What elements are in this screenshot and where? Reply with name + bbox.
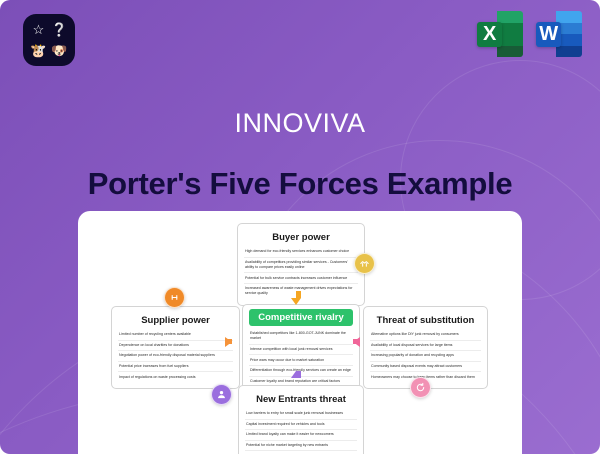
excel-icon-letter: X: [477, 22, 502, 48]
arrow-substitution-to-rivalry: [353, 339, 360, 344]
list-item: Potential for niche market targeting by …: [245, 441, 357, 452]
list-item: High demand for eco-friendly services en…: [244, 247, 358, 258]
arrow-entrants-to-rivalry: [293, 371, 301, 378]
word-icon-letter: W: [536, 22, 561, 48]
force-bullets-buyer-power: High demand for eco-friendly services en…: [244, 247, 358, 299]
recycle-icon: [410, 377, 431, 398]
star-icon: ☆: [33, 23, 45, 36]
word-icon[interactable]: W: [536, 11, 582, 57]
force-title-buyer-power: Buyer power: [244, 229, 358, 247]
force-card-supplier-power[interactable]: Supplier power Limited number of recycli…: [111, 306, 240, 389]
list-item: Availability of competitors providing si…: [244, 258, 358, 274]
list-item: Increased awareness of waste management …: [244, 284, 358, 299]
list-item: Potential for bulk service contracts inc…: [244, 273, 358, 284]
list-item: Potential price increases from fuel supp…: [118, 362, 233, 373]
list-item: Limited brand loyalty can make it easier…: [245, 430, 357, 441]
list-item: Price wars may occur due to market satur…: [249, 355, 353, 366]
force-title-new-entrants-threat: New Entrants threat: [245, 391, 357, 409]
force-bullets-new-entrants-threat: Low barriers to entry for small scale ju…: [245, 409, 357, 454]
force-card-threat-of-substitution[interactable]: Threat of substitution Alternative optio…: [363, 306, 488, 389]
list-item: Intense competition with local junk remo…: [249, 345, 353, 356]
list-item: Limited number of recycling centers avai…: [118, 330, 233, 341]
question-icon: ❔: [51, 23, 67, 36]
slide-canvas: ☆ ❔ 🐮 🐶 X W INNOVIVA Porter's Five Force…: [0, 0, 600, 454]
list-item: Differentiation through eco-friendly ser…: [249, 366, 353, 377]
force-card-new-entrants-threat[interactable]: New Entrants threat Low barriers to entr…: [238, 385, 364, 454]
force-bullets-threat-of-substitution: Alternative options like DIY junk remova…: [370, 330, 481, 382]
list-item: Alternative options like DIY junk remova…: [370, 330, 481, 341]
user-icon: [211, 384, 232, 405]
list-item: Dependence on local charities for donati…: [118, 341, 233, 352]
arrow-supplier-to-rivalry: [225, 339, 232, 344]
force-title-supplier-power: Supplier power: [118, 312, 233, 330]
list-item: Availability of local disposal services …: [370, 341, 481, 352]
force-title-competitive-rivalry: Competitive rivalry: [249, 309, 353, 326]
dog-icon: 🐶: [51, 44, 67, 57]
page-title: Porter's Five Forces Example: [0, 166, 600, 202]
brand-name: INNOVIVA: [0, 108, 600, 139]
list-item: Community based disposal events may attr…: [370, 362, 481, 373]
force-bullets-competitive-rivalry: Established competitors like 1-800-GOT-J…: [249, 329, 353, 386]
force-card-buyer-power[interactable]: Buyer power High demand for eco-friendly…: [237, 223, 365, 306]
cow-icon: 🐮: [30, 44, 46, 57]
force-bullets-supplier-power: Limited number of recycling centers avai…: [118, 330, 233, 382]
force-card-competitive-rivalry[interactable]: Competitive rivalry Established competit…: [242, 304, 360, 393]
handshake-icon: [354, 253, 375, 274]
list-item: Established competitors like 1-800-GOT-J…: [249, 329, 353, 345]
force-title-threat-of-substitution: Threat of substitution: [370, 312, 481, 330]
list-item: Impact of regulations on waste processin…: [118, 372, 233, 382]
list-item: Capital investment required for vehicles…: [245, 420, 357, 431]
diagram-panel: Buyer power High demand for eco-friendly…: [78, 211, 522, 454]
excel-icon[interactable]: X: [477, 11, 523, 57]
export-format-icons: X W: [477, 11, 582, 57]
list-item: Low barriers to entry for small scale ju…: [245, 409, 357, 420]
barbell-icon: [164, 287, 185, 308]
app-logo[interactable]: ☆ ❔ 🐮 🐶: [23, 14, 75, 66]
list-item: Increasing popularity of donation and re…: [370, 351, 481, 362]
list-item: Negotiation power of eco-friendly dispos…: [118, 351, 233, 362]
arrow-buyer-to-rivalry: [293, 291, 301, 298]
